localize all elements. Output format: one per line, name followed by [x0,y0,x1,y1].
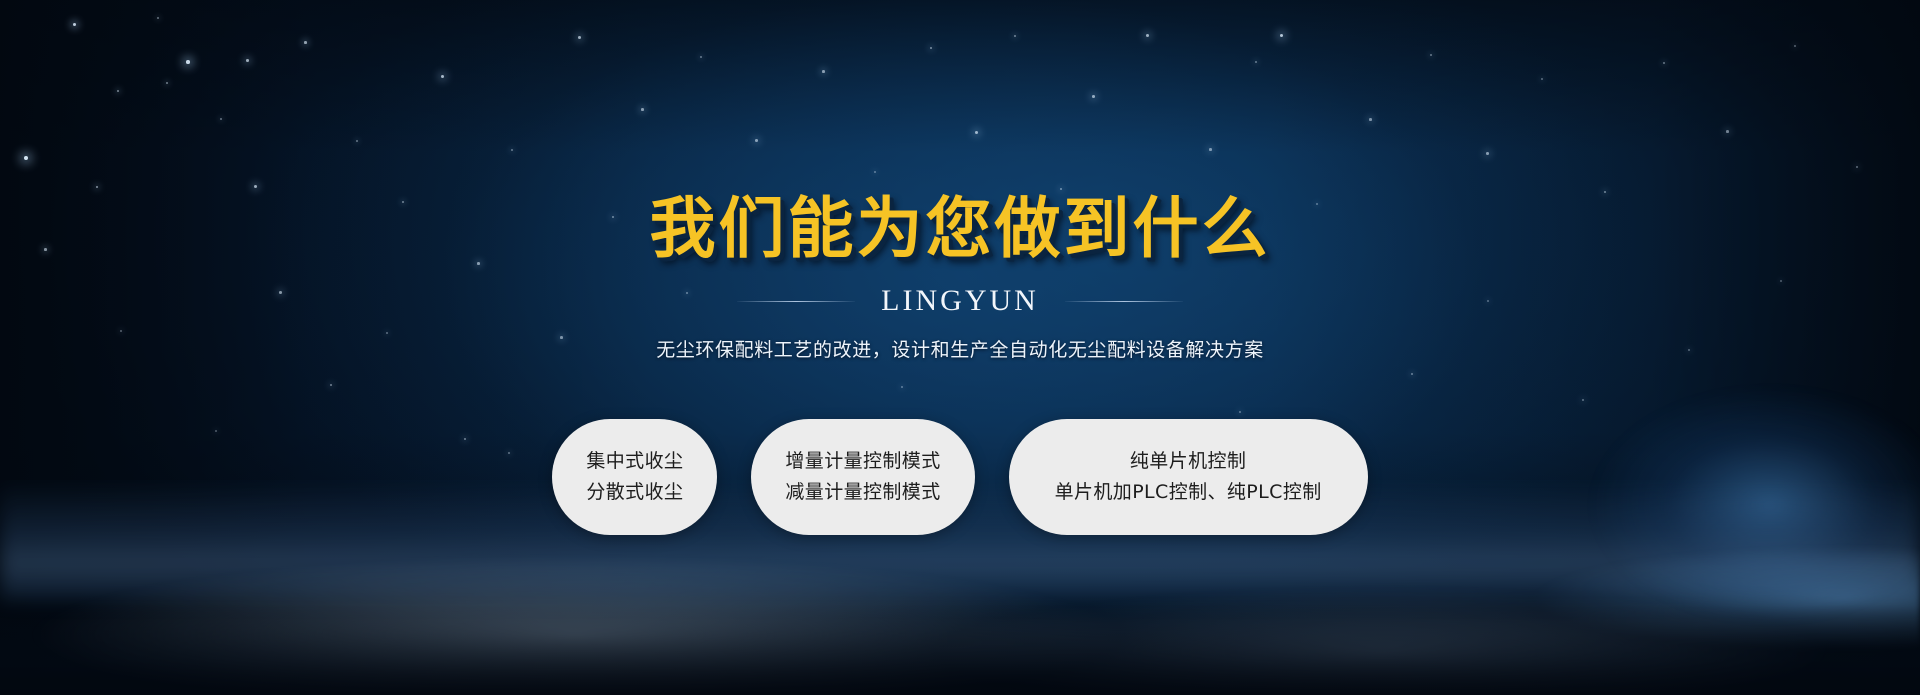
feature-pill-dust-collection[interactable]: 集中式收尘 分散式收尘 [552,419,717,535]
page-title: 我们能为您做到什么 [650,196,1271,262]
divider-right [1065,301,1183,302]
pill-line: 纯单片机控制 [1130,451,1246,473]
banner-content: 我们能为您做到什么 LINGYUN 无尘环保配料工艺的改进，设计和生产全自动化无… [0,0,1920,695]
banner-description: 无尘环保配料工艺的改进，设计和生产全自动化无尘配料设备解决方案 [656,335,1264,362]
feature-pill-group: 集中式收尘 分散式收尘 增量计量控制模式 减量计量控制模式 纯单片机控制 单片机… [552,419,1367,535]
pill-line: 减量计量控制模式 [785,482,940,504]
pill-line: 单片机加PLC控制、纯PLC控制 [1055,482,1322,504]
feature-pill-metering-control-mode[interactable]: 增量计量控制模式 减量计量控制模式 [751,419,974,535]
divider-left [737,301,855,302]
pill-line: 增量计量控制模式 [785,451,940,473]
subtitle-row: LINGYUN [737,284,1183,318]
pill-line: 集中式收尘 [586,451,683,473]
pill-line: 分散式收尘 [586,482,683,504]
hero-banner: 我们能为您做到什么 LINGYUN 无尘环保配料工艺的改进，设计和生产全自动化无… [0,0,1920,695]
feature-pill-controller-type[interactable]: 纯单片机控制 单片机加PLC控制、纯PLC控制 [1009,419,1368,535]
subtitle-english: LINGYUN [881,284,1039,318]
